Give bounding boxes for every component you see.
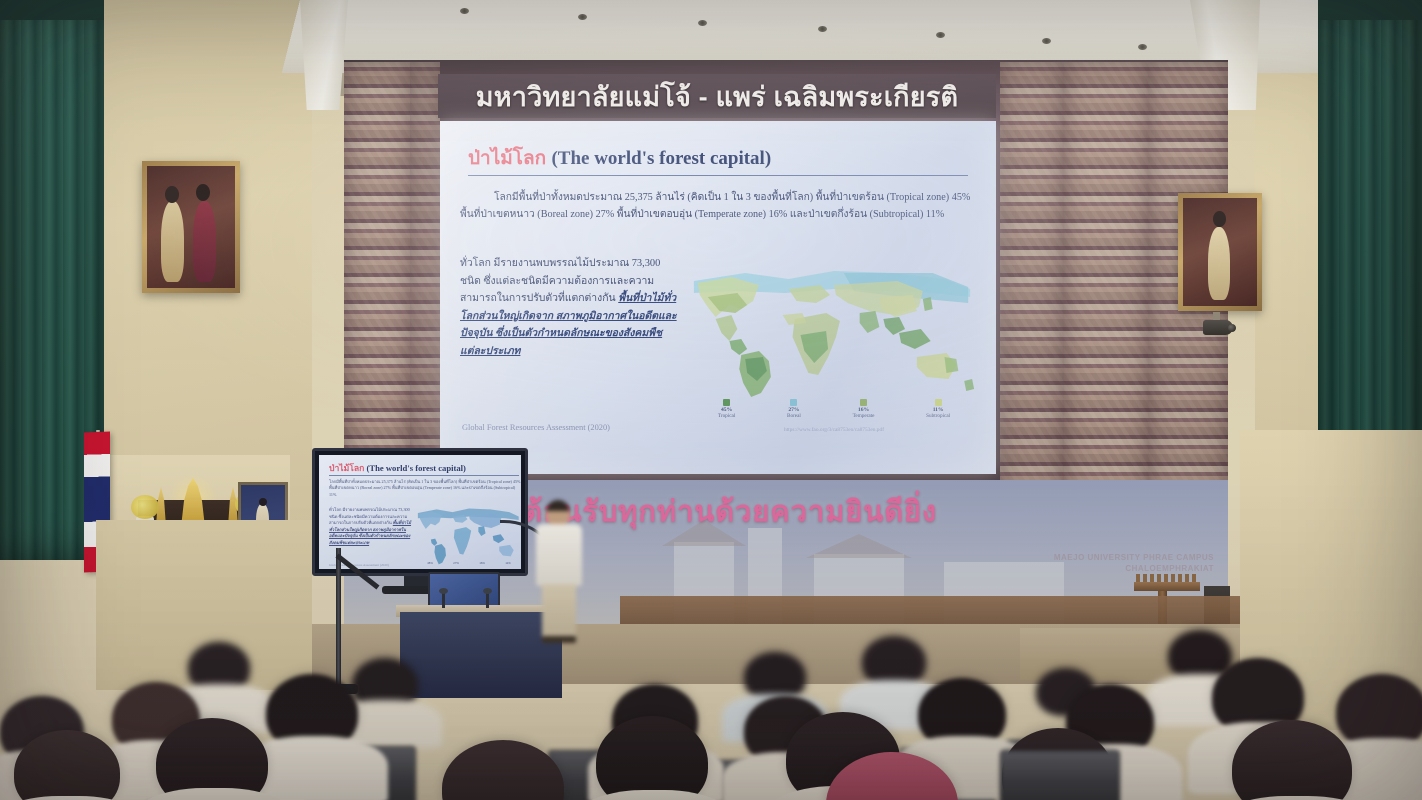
- curtain-valance-left: [0, 0, 104, 20]
- thai-woven-panel: [410, 62, 440, 508]
- lecture-hall-photo: มหาวิทยาลัยแม่โจ้ - แพร่ เฉลิมพระเกียรติ…: [0, 0, 1422, 800]
- thai-woven-panel: [344, 62, 410, 508]
- portrait-figure-head: [259, 498, 267, 506]
- carved-side-table: [1134, 582, 1200, 591]
- legend-swatch-tropical: [723, 399, 730, 406]
- confidence-slide-title: ป่าไม้โลก (The world's forest capital): [329, 461, 466, 475]
- slide-title: ป่าไม้โลก (The world's forest capital): [468, 143, 771, 173]
- portrait-figure-head: [196, 184, 210, 201]
- confidence-paragraph-2: ทั่วโลก มีรายงานพบพรรณไม้ประมาณ 73,300 ช…: [329, 507, 413, 547]
- legend-item: 11% Subtropical: [926, 399, 950, 419]
- audience-head: [442, 740, 564, 800]
- confidence-legend-item: 45%: [427, 561, 433, 565]
- legend-label: Temperate: [853, 413, 875, 419]
- curtain-valance-right: [1318, 0, 1422, 20]
- projected-slide: ป่าไม้โลก (The world's forest capital) โ…: [440, 121, 996, 474]
- map-legend: 45% Tropical 27% Boreal 16% Temperate 11…: [692, 399, 976, 419]
- microphone-head: [439, 588, 448, 594]
- banner-subtext-line-2: CHALOEMPHRAKIAT: [1054, 563, 1214, 574]
- portrait-canvas: [1183, 198, 1257, 306]
- confidence-title-thai: ป่าไม้โลก: [329, 463, 364, 473]
- downlight: [1138, 44, 1147, 50]
- downlight: [698, 20, 707, 26]
- downlight: [936, 32, 945, 38]
- slide-title-english: (The world's forest capital): [551, 148, 771, 169]
- legend-swatch-subtropical: [935, 399, 942, 406]
- world-map-svg: [686, 263, 982, 403]
- world-forest-map: 45% Tropical 27% Boreal 16% Temperate 11…: [686, 263, 982, 439]
- downlight: [578, 14, 587, 20]
- slide-title-divider: [468, 175, 968, 176]
- portrait-figure: [1208, 227, 1230, 300]
- auditorium-chair: [1000, 750, 1120, 800]
- yellow-flowers: [131, 495, 159, 519]
- legend-swatch-temperate: [860, 399, 867, 406]
- audience: [0, 600, 1422, 800]
- portrait-figure: [161, 201, 184, 282]
- confidence-legend-item: 16%: [479, 561, 485, 565]
- slide-paragraph-1-text: โลกมีพื้นที่ป่าทั้งหมดประมาณ 25,375 ล้าน…: [460, 192, 970, 220]
- presenter-torso: [536, 524, 582, 586]
- downlight: [1042, 38, 1051, 44]
- confidence-title-divider: [329, 475, 519, 476]
- legend-label: Tropical: [718, 413, 735, 419]
- audience-head: [596, 716, 708, 800]
- thai-woven-panel: [1000, 62, 1064, 508]
- legend-label: Subtropical: [926, 413, 950, 419]
- confidence-title-english: (The world's forest capital): [367, 463, 466, 473]
- presenter-head: [546, 500, 570, 526]
- slide-citation: Global Forest Resources Assessment (2020…: [462, 423, 610, 432]
- legend-label: Boreal: [787, 413, 801, 419]
- legend-swatch-boreal: [790, 399, 797, 406]
- legend-item: 16% Temperate: [853, 399, 875, 419]
- banner-subtext: MAEJO UNIVERSITY PHRAE CAMPUS CHALOEMPHR…: [1054, 552, 1214, 574]
- royal-portrait-right: [1178, 193, 1262, 311]
- confidence-monitor-screen: ป่าไม้โลก (The world's forest capital) โ…: [319, 455, 521, 569]
- thai-woven-panel: [1064, 62, 1148, 508]
- slide-paragraph-2: ทั่วโลก มีรายงานพบพรรณไม้ประมาณ 73,300 ช…: [460, 255, 678, 360]
- portrait-figure-head: [165, 186, 179, 203]
- confidence-paragraph-1: โลกมีพื้นที่ป่าทั้งหมดประมาณ 25,375 ล้าน…: [329, 479, 521, 498]
- camera-lens-icon: [1228, 324, 1236, 332]
- royal-portrait-left: [142, 161, 240, 293]
- portrait-figure-head: [1213, 211, 1226, 227]
- university-banner: มหาวิทยาลัยแม่โจ้ - แพร่ เฉลิมพระเกียรติ: [438, 74, 996, 118]
- confidence-legend-item: 27%: [453, 561, 459, 565]
- confidence-monitor: ป่าไม้โลก (The world's forest capital) โ…: [312, 448, 528, 576]
- map-source-url: https://www.fao.org/3/ca8753en/ca8753en.…: [688, 427, 980, 433]
- university-banner-text: มหาวิทยาลัยแม่โจ้ - แพร่ เฉลิมพระเกียรติ: [476, 75, 958, 118]
- slide-paragraph-1: โลกมีพื้นที่ป่าทั้งหมดประมาณ 25,375 ล้าน…: [460, 189, 980, 223]
- legend-item: 45% Tropical: [718, 399, 735, 419]
- downlight: [818, 26, 827, 32]
- downlight: [460, 8, 469, 14]
- portrait-canvas: [147, 166, 235, 288]
- banner-subtext-line-1: MAEJO UNIVERSITY PHRAE CAMPUS: [1054, 552, 1214, 563]
- slide-title-thai: ป่าไม้โลก: [468, 148, 546, 169]
- portrait-figure: [193, 201, 216, 282]
- microphone-head: [483, 588, 492, 594]
- legend-item: 27% Boreal: [787, 399, 801, 419]
